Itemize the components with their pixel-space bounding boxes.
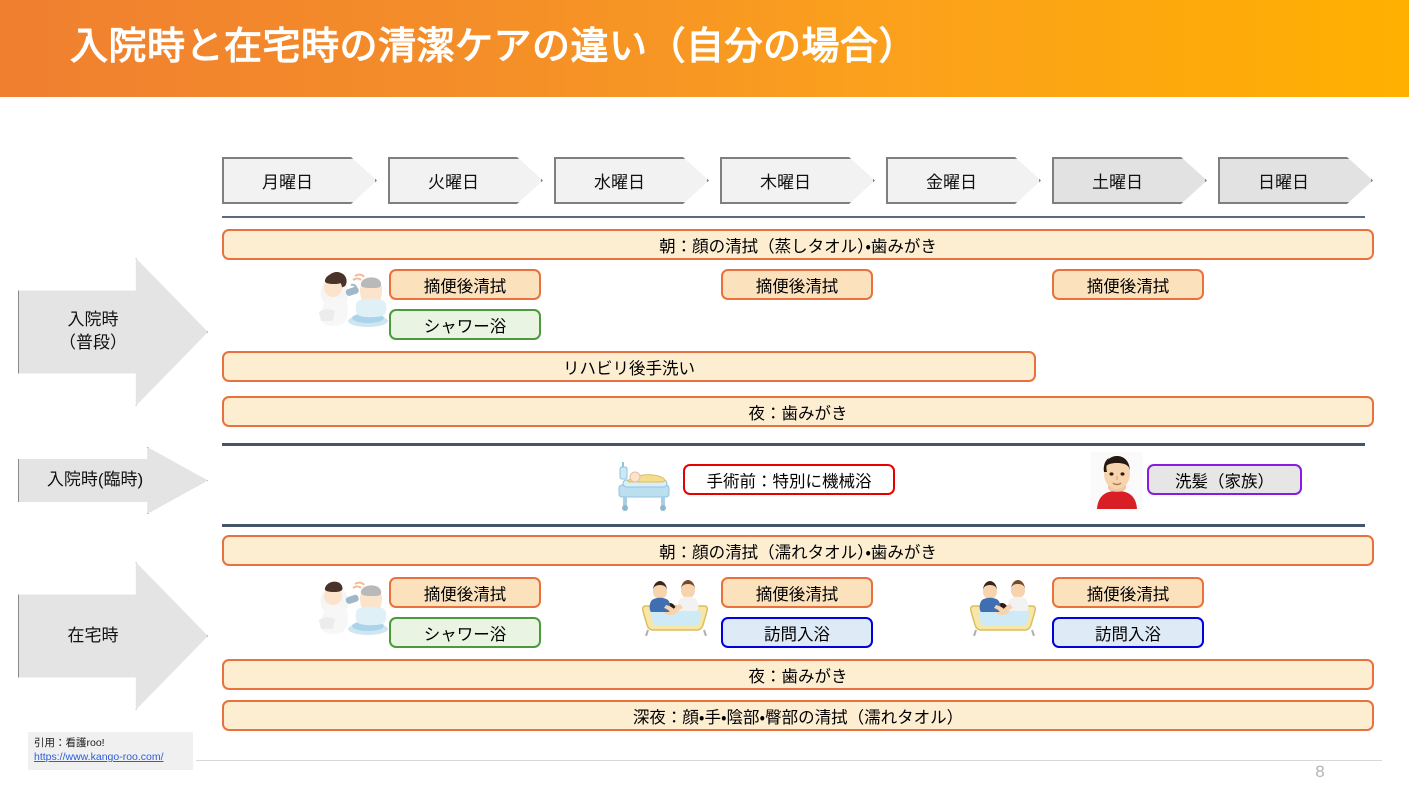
row-home-late-night: 深夜：顔・手・陰部・臀部の清拭（濡れタオル） (222, 700, 1374, 731)
box-hospital-manual-removal-thu: 摘便後清拭 (721, 269, 873, 300)
family-member-photo (1091, 452, 1143, 509)
home-bath-illustration-sat (968, 578, 1040, 636)
day-header-friday: 金曜日 (886, 157, 1041, 204)
day-header-tuesday: 火曜日 (388, 157, 543, 204)
section-arrow-hospital-temp: 入院時(臨時) (18, 447, 208, 514)
day-header-wednesday: 水曜日 (554, 157, 709, 204)
box-home-manual-removal-sat: 摘便後清拭 (1052, 577, 1204, 608)
row-home-night: 夜：歯みがき (222, 659, 1374, 690)
day-header-sunday: 日曜日 (1218, 157, 1373, 204)
mechanical-bath-illustration (613, 459, 677, 511)
section-label-line1: 在宅時 (68, 625, 119, 648)
box-home-manual-removal-mon: 摘便後清拭 (389, 577, 541, 608)
box-machine-bath: 手術前：特別に機械浴 (683, 464, 895, 495)
day-header-saturday: 土曜日 (1052, 157, 1207, 204)
citation: 引用：看護roo! https://www.kango-roo.com/ (28, 732, 193, 770)
row-hospital-night: 夜：歯みがき (222, 396, 1374, 427)
box-home-manual-removal-wed: 摘便後清拭 (721, 577, 873, 608)
day-header-thursday: 木曜日 (720, 157, 875, 204)
section-label-line1: 入院時 (59, 309, 127, 332)
footer-divider (196, 760, 1382, 761)
page-title: 入院時と在宅時の清潔ケアの違い（自分の場合） (70, 18, 917, 76)
day-label: 水曜日 (594, 168, 645, 193)
box-home-shower-mon: シャワー浴 (389, 617, 541, 648)
day-label: 金曜日 (926, 168, 977, 193)
box-hospital-manual-removal-sat: 摘便後清拭 (1052, 269, 1204, 300)
box-hospital-manual-removal-mon: 摘便後清拭 (389, 269, 541, 300)
section-label-line1: 入院時(臨時) (47, 469, 143, 492)
header-separator (222, 216, 1365, 218)
row-hospital-rehab: リハビリ後手洗い (222, 351, 1036, 382)
shower-care-illustration (313, 266, 391, 328)
day-label: 木曜日 (760, 168, 811, 193)
row-home-morning: 朝：顔の清拭（濡れタオル）・歯みがき (222, 535, 1374, 566)
home-bath-illustration-wed (640, 578, 712, 636)
day-label: 月曜日 (262, 168, 313, 193)
citation-link[interactable]: https://www.kango-roo.com/ (34, 750, 187, 764)
day-label: 日曜日 (1258, 168, 1309, 193)
section-separator-1 (222, 443, 1365, 446)
section-separator-2 (222, 524, 1365, 527)
row-hospital-morning: 朝：顔の清拭（蒸しタオル）・歯みがき (222, 229, 1374, 260)
day-label: 火曜日 (428, 168, 479, 193)
box-home-bath-wed: 訪問入浴 (721, 617, 873, 648)
slide-canvas: 入院時と在宅時の清潔ケアの違い（自分の場合） 月曜日 火曜日 水曜日 木曜日 金… (0, 0, 1409, 793)
box-home-bath-sat: 訪問入浴 (1052, 617, 1204, 648)
box-hair-wash: 洗髪（家族） (1147, 464, 1302, 495)
page-number: 8 (1300, 762, 1340, 782)
section-arrow-hospital-normal: 入院時 （普段） (18, 258, 208, 406)
day-header-monday: 月曜日 (222, 157, 377, 204)
shower-care-illustration-home (313, 574, 391, 636)
box-hospital-shower-mon: シャワー浴 (389, 309, 541, 340)
section-arrow-home: 在宅時 (18, 562, 208, 710)
day-label: 土曜日 (1092, 168, 1143, 193)
citation-label: 引用：看護roo! (34, 736, 187, 750)
section-label-line2: （普段） (59, 332, 127, 355)
